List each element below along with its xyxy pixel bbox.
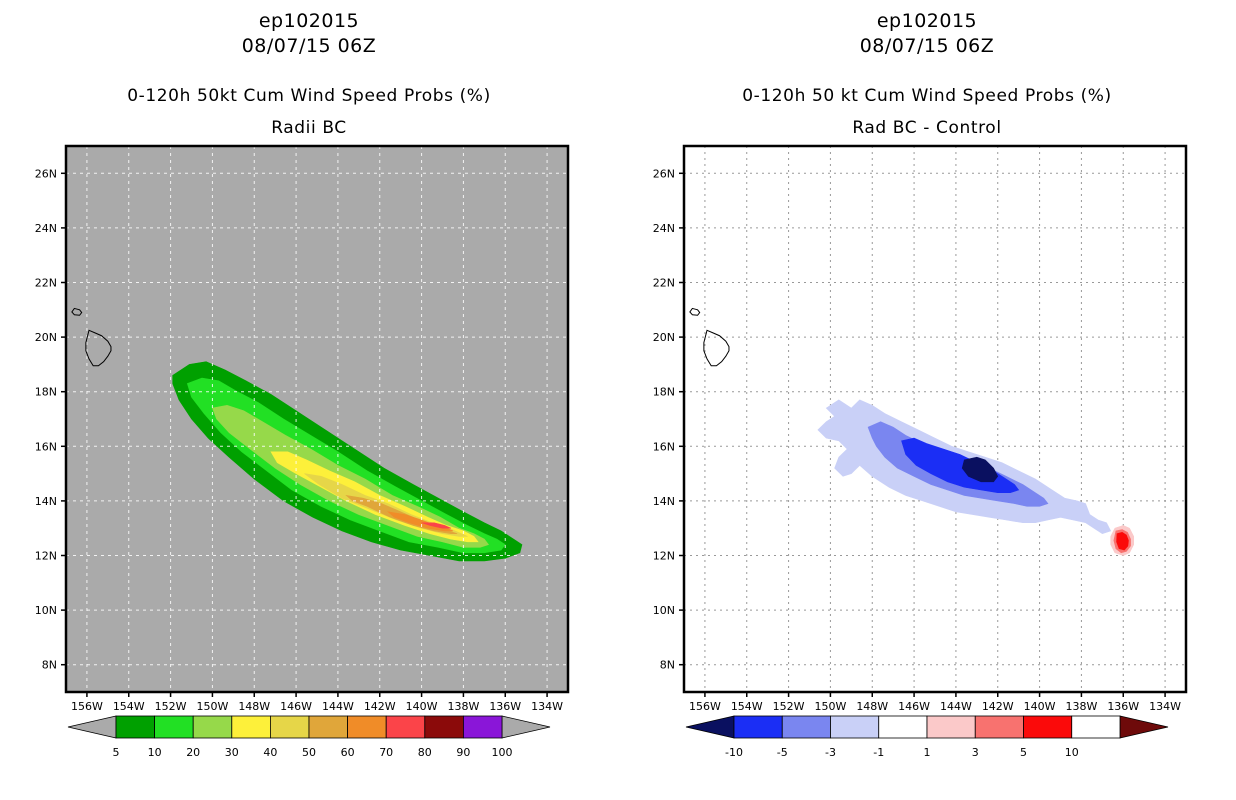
colorbar-over-arrow: [502, 716, 550, 738]
colorbar-swatch[interactable]: [425, 716, 464, 738]
colorbar-swatch[interactable]: [831, 716, 879, 738]
contour-map-right[interactable]: 156W154W152W150W148W146W144W142W140W138W…: [618, 140, 1236, 710]
y-tick-label: 10N: [653, 604, 675, 617]
storm-id-left: ep102015: [0, 10, 618, 32]
colorbar-swatch[interactable]: [879, 716, 927, 738]
colorbar-swatch[interactable]: [348, 716, 387, 738]
colorbar-tick-label: 5: [1020, 746, 1027, 759]
colorbar-swatch[interactable]: [975, 716, 1023, 738]
y-tick-label: 22N: [35, 277, 57, 290]
colorbar-swatch[interactable]: [232, 716, 271, 738]
colorbar-tick-label: 20: [186, 746, 200, 759]
colorbar-tick-label: -1: [873, 746, 884, 759]
y-tick-label: 24N: [35, 222, 57, 235]
plot-area-left: 156W154W152W150W148W146W144W142W140W138W…: [0, 140, 618, 710]
colorbar-tick-label: 70: [379, 746, 393, 759]
y-tick-label: 26N: [653, 167, 675, 180]
colorbar-tick-label: -3: [825, 746, 836, 759]
colorbar-under-arrow: [686, 716, 734, 738]
datetime-right: 08/07/15 06Z: [618, 35, 1236, 57]
y-tick-label: 20N: [35, 331, 57, 344]
colorbar-tick-label: 1: [924, 746, 931, 759]
colorbar-tick-label: 3: [972, 746, 979, 759]
colorbar-swatch[interactable]: [386, 716, 425, 738]
storm-id-right: ep102015: [618, 10, 1236, 32]
colorbar-swatch[interactable]: [734, 716, 782, 738]
colorbar-swatch[interactable]: [193, 716, 232, 738]
y-tick-label: 18N: [35, 386, 57, 399]
plot-background: [66, 146, 568, 692]
colorbar-swatch[interactable]: [1024, 716, 1072, 738]
colorbar-left: 5102030405060708090100: [0, 706, 618, 766]
colorbar-tick-label: 10: [148, 746, 162, 759]
colorbar-swatch[interactable]: [270, 716, 309, 738]
y-tick-label: 12N: [653, 550, 675, 563]
y-tick-label: 26N: [35, 167, 57, 180]
colorbar-swatch[interactable]: [463, 716, 502, 738]
colorbar-tick-label: 5: [113, 746, 120, 759]
colorbar-tick-label: 90: [456, 746, 470, 759]
colorbar-svg-left[interactable]: 5102030405060708090100: [0, 706, 618, 766]
plot-title-left: 0-120h 50kt Cum Wind Speed Probs (%): [0, 86, 618, 106]
y-tick-label: 8N: [42, 659, 57, 672]
y-tick-label: 14N: [35, 495, 57, 508]
y-tick-label: 8N: [660, 659, 675, 672]
y-tick-label: 10N: [35, 604, 57, 617]
colorbar-tick-label: 30: [225, 746, 239, 759]
colorbar-tick-label: 50: [302, 746, 316, 759]
plot-area-right: 156W154W152W150W148W146W144W142W140W138W…: [618, 140, 1236, 710]
colorbar-tick-label: 60: [341, 746, 355, 759]
y-tick-label: 24N: [653, 222, 675, 235]
colorbar-svg-right[interactable]: -10-5-3-113510: [618, 706, 1236, 766]
panel-left: ep102015 08/07/15 06Z 0-120h 50kt Cum Wi…: [0, 0, 618, 800]
chart-page: ep102015 08/07/15 06Z 0-120h 50kt Cum Wi…: [0, 0, 1236, 800]
colorbar-tick-label: 40: [263, 746, 277, 759]
y-tick-label: 22N: [653, 277, 675, 290]
colorbar-swatch[interactable]: [116, 716, 155, 738]
y-tick-label: 20N: [653, 331, 675, 344]
plot-title-right: 0-120h 50 kt Cum Wind Speed Probs (%): [618, 86, 1236, 106]
contour-map-left[interactable]: 156W154W152W150W148W146W144W142W140W138W…: [0, 140, 618, 710]
colorbar-right: -10-5-3-113510: [618, 706, 1236, 766]
y-tick-label: 16N: [35, 440, 57, 453]
plot-subtitle-right: Rad BC - Control: [618, 118, 1236, 138]
colorbar-over-arrow: [1120, 716, 1168, 738]
colorbar-tick-label: 10: [1065, 746, 1079, 759]
y-tick-label: 12N: [35, 550, 57, 563]
colorbar-swatch[interactable]: [927, 716, 975, 738]
y-tick-label: 14N: [653, 495, 675, 508]
colorbar-tick-label: -10: [725, 746, 743, 759]
y-tick-label: 18N: [653, 386, 675, 399]
colorbar-tick-label: 100: [492, 746, 513, 759]
colorbar-swatch[interactable]: [309, 716, 348, 738]
panel-right: ep102015 08/07/15 06Z 0-120h 50 kt Cum W…: [618, 0, 1236, 800]
colorbar-tick-label: 80: [418, 746, 432, 759]
colorbar-swatch[interactable]: [1072, 716, 1120, 738]
y-tick-label: 16N: [653, 440, 675, 453]
colorbar-tick-label: -5: [777, 746, 788, 759]
datetime-left: 08/07/15 06Z: [0, 35, 618, 57]
colorbar-swatch[interactable]: [782, 716, 830, 738]
plot-subtitle-left: Radii BC: [0, 118, 618, 138]
colorbar-under-arrow: [68, 716, 116, 738]
colorbar-swatch[interactable]: [155, 716, 194, 738]
